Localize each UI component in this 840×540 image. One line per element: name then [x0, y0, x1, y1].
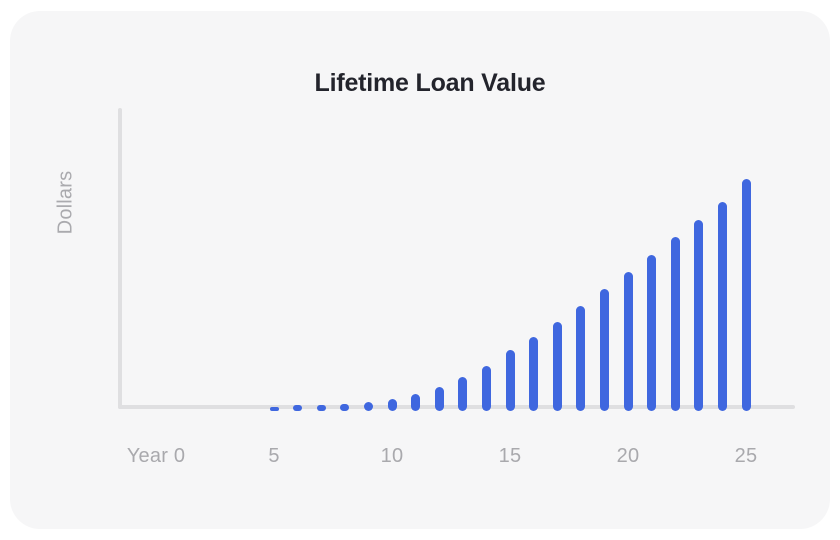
bar — [364, 402, 373, 411]
bar — [742, 179, 751, 411]
x-tick-label: Year 0 — [127, 445, 185, 468]
bar — [718, 202, 727, 411]
x-tick-label: 25 — [735, 445, 758, 468]
bar — [529, 337, 538, 411]
bar — [647, 255, 656, 411]
y-axis-label: Dollars — [55, 138, 78, 268]
x-tick-label: 5 — [268, 445, 279, 468]
bar-series — [120, 108, 793, 408]
bar — [576, 306, 585, 411]
bar — [553, 322, 562, 411]
x-tick-label: 10 — [381, 445, 404, 468]
bar — [293, 405, 302, 411]
bar — [482, 366, 491, 411]
bar — [270, 407, 279, 411]
bar — [317, 405, 326, 411]
x-tick-label: 15 — [499, 445, 522, 468]
chart-card: Lifetime Loan Value Dollars Year 0510152… — [10, 11, 830, 529]
x-axis-tick-labels: Year 0510152025 — [10, 445, 840, 481]
bar — [458, 377, 467, 411]
chart-screenshot: Lifetime Loan Value Dollars Year 0510152… — [0, 0, 840, 540]
x-tick-label: 20 — [617, 445, 640, 468]
bar — [600, 289, 609, 411]
bar — [506, 350, 515, 411]
bar — [340, 404, 349, 411]
bar — [694, 220, 703, 411]
bar — [388, 399, 397, 411]
bar — [435, 387, 444, 411]
chart-title: Lifetime Loan Value — [120, 69, 740, 98]
bar — [671, 237, 680, 411]
bar — [411, 394, 420, 411]
bar — [624, 272, 633, 411]
